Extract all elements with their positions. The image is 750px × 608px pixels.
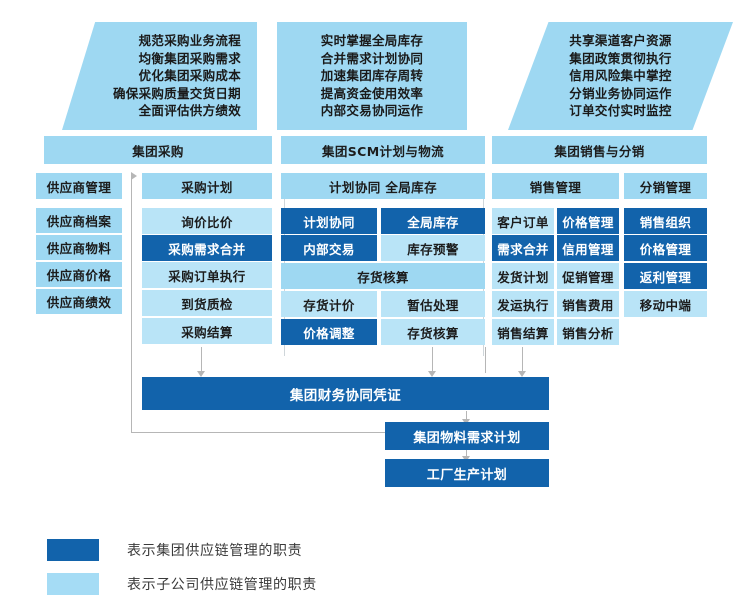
banner-scm-line-3: 加速集团库存周转: [321, 67, 423, 85]
banner-procurement: 规范采购业务流程 均衡集团采购需求 优化集团采购成本 确保采购质量交货日期 全面…: [62, 22, 257, 130]
banner-scm-line-4: 提高资金使用效率: [321, 85, 423, 103]
scm-upper-right-0[interactable]: 全局库存: [381, 208, 485, 234]
banner-sales-line-1: 共享渠道客户资源: [569, 32, 671, 50]
banner-procurement-line-2: 均衡集团采购需求: [139, 50, 241, 68]
procurement-item-4[interactable]: 采购结算: [142, 318, 272, 344]
legend-swatch-subsidiary: [47, 573, 99, 595]
banner-procurement-line-3: 优化集团采购成本: [139, 67, 241, 85]
legend-label-group: 表示集团供应链管理的职责: [127, 540, 302, 560]
connector-procurement-down: [201, 347, 202, 373]
banner-scm-line-5: 内部交易协同运作: [321, 102, 423, 120]
sales-right-4[interactable]: 销售分析: [557, 319, 619, 345]
connector-procurement-to-finance: [131, 177, 132, 432]
sales-right-2[interactable]: 促销管理: [557, 263, 619, 289]
distribution-item-1[interactable]: 价格管理: [624, 235, 707, 261]
legend-row-subsidiary: 表示子公司供应链管理的职责: [47, 573, 317, 595]
banner-scm: 实时掌握全局库存 合并需求计划协同 加速集团库存周转 提高资金使用效率 内部交易…: [277, 22, 467, 130]
supplier-item-3[interactable]: 供应商绩效: [36, 289, 122, 314]
scm-lower-right-1[interactable]: 存货核算: [381, 319, 485, 345]
scm-mid-title[interactable]: 存货核算: [281, 263, 485, 289]
procurement-item-1[interactable]: 采购需求合并: [142, 235, 272, 261]
header-scm: 集团SCM计划与物流: [281, 136, 485, 164]
sales-title[interactable]: 销售管理: [492, 173, 619, 199]
mrp-bar[interactable]: 集团物料需求计划: [385, 422, 549, 450]
sales-right-1[interactable]: 信用管理: [557, 235, 619, 261]
sales-left-4[interactable]: 销售结算: [492, 319, 554, 345]
banner-procurement-line-4: 确保采购质量交货日期: [113, 85, 241, 103]
banner-scm-line-1: 实时掌握全局库存: [321, 32, 423, 50]
connector-arrow-to-procurement: [131, 172, 137, 180]
distribution-title[interactable]: 分销管理: [624, 173, 707, 199]
scm-lower-left-1[interactable]: 价格调整: [281, 319, 377, 345]
scm-upper-left-0[interactable]: 计划协同: [281, 208, 377, 234]
header-sales: 集团销售与分销: [492, 136, 707, 164]
banner-procurement-line-1: 规范采购业务流程: [139, 32, 241, 50]
connector-sales-down: [485, 347, 486, 373]
sales-left-3[interactable]: 发运执行: [492, 291, 554, 317]
scm-title[interactable]: 计划协同 全局库存: [281, 173, 485, 199]
supplier-title[interactable]: 供应商管理: [36, 173, 122, 199]
connector-distribution-down: [522, 347, 523, 373]
procurement-title[interactable]: 采购计划: [142, 173, 272, 199]
scm-upper-left-1[interactable]: 内部交易: [281, 235, 377, 261]
legend-row-group: 表示集团供应链管理的职责: [47, 539, 302, 561]
scm-upper-right-1[interactable]: 库存预警: [381, 235, 485, 261]
procurement-item-3[interactable]: 到货质检: [142, 290, 272, 316]
scm-lower-right-0[interactable]: 暂估处理: [381, 291, 485, 317]
sales-left-0[interactable]: 客户订单: [492, 208, 554, 234]
distribution-item-3[interactable]: 移动中端: [624, 291, 707, 317]
finance-bar[interactable]: 集团财务协同凭证: [142, 377, 549, 410]
banner-procurement-line-5: 全面评估供方绩效: [139, 102, 241, 120]
procurement-item-0[interactable]: 询价比价: [142, 208, 272, 234]
supplier-item-0[interactable]: 供应商档案: [36, 208, 122, 233]
banner-sales-line-2: 集团政策贯彻执行: [569, 50, 671, 68]
sales-left-1[interactable]: 需求合并: [492, 235, 554, 261]
sales-right-3[interactable]: 销售费用: [557, 291, 619, 317]
sales-right-0[interactable]: 价格管理: [557, 208, 619, 234]
distribution-item-2[interactable]: 返利管理: [624, 263, 707, 289]
procurement-item-2[interactable]: 采购订单执行: [142, 262, 272, 288]
plant-bar[interactable]: 工厂生产计划: [385, 459, 549, 487]
connector-scm-down: [432, 347, 433, 373]
legend-swatch-group: [47, 539, 99, 561]
supplier-item-1[interactable]: 供应商物料: [36, 235, 122, 260]
distribution-item-0[interactable]: 销售组织: [624, 208, 707, 234]
banner-sales: 共享渠道客户资源 集团政策贯彻执行 信用风险集中掌控 分销业务协同运作 订单交付…: [508, 22, 733, 130]
header-procurement: 集团采购: [44, 136, 272, 164]
banner-sales-line-4: 分销业务协同运作: [569, 85, 671, 103]
sales-left-2[interactable]: 发货计划: [492, 263, 554, 289]
connector-procurement-to-finance-foot: [131, 432, 396, 433]
banner-scm-line-2: 合并需求计划协同: [321, 50, 423, 68]
diagram-canvas: 规范采购业务流程 均衡集团采购需求 优化集团采购成本 确保采购质量交货日期 全面…: [0, 0, 750, 608]
scm-lower-left-0[interactable]: 存货计价: [281, 291, 377, 317]
banner-sales-line-5: 订单交付实时监控: [569, 102, 671, 120]
supplier-item-2[interactable]: 供应商价格: [36, 262, 122, 287]
banner-sales-line-3: 信用风险集中掌控: [569, 67, 671, 85]
legend-label-subsidiary: 表示子公司供应链管理的职责: [127, 574, 317, 594]
